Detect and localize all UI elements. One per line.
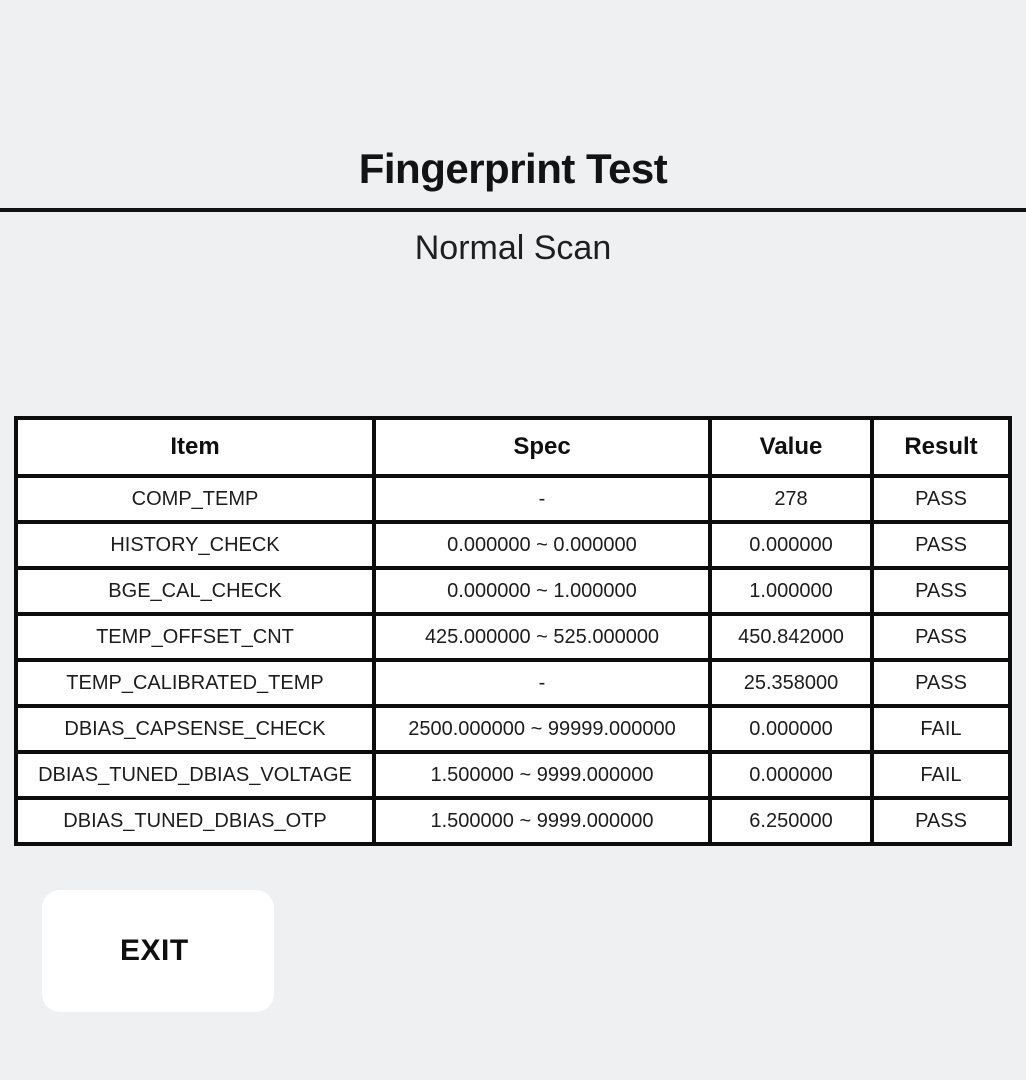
cell-result: PASS (872, 660, 1010, 706)
cell-spec: 2500.000000 ~ 99999.000000 (374, 706, 710, 752)
cell-item: DBIAS_TUNED_DBIAS_OTP (16, 798, 374, 844)
cell-value: 450.842000 (710, 614, 872, 660)
cell-result: FAIL (872, 752, 1010, 798)
column-header-spec: Spec (374, 418, 710, 476)
results-table: Item Spec Value Result COMP_TEMP-278PASS… (14, 416, 1012, 846)
cell-value: 0.000000 (710, 752, 872, 798)
page-header: Fingerprint Test Normal Scan (0, 0, 1026, 267)
page-title: Fingerprint Test (0, 148, 1026, 208)
cell-item: BGE_CAL_CHECK (16, 568, 374, 614)
cell-value: 1.000000 (710, 568, 872, 614)
cell-value: 25.358000 (710, 660, 872, 706)
table-row: TEMP_OFFSET_CNT425.000000 ~ 525.00000045… (16, 614, 1010, 660)
cell-spec: 1.500000 ~ 9999.000000 (374, 798, 710, 844)
cell-result: PASS (872, 798, 1010, 844)
column-header-result: Result (872, 418, 1010, 476)
table-row: TEMP_CALIBRATED_TEMP-25.358000PASS (16, 660, 1010, 706)
cell-result: PASS (872, 614, 1010, 660)
cell-item: DBIAS_TUNED_DBIAS_VOLTAGE (16, 752, 374, 798)
cell-item: COMP_TEMP (16, 476, 374, 522)
cell-value: 278 (710, 476, 872, 522)
column-header-value: Value (710, 418, 872, 476)
cell-spec: 425.000000 ~ 525.000000 (374, 614, 710, 660)
table-row: HISTORY_CHECK0.000000 ~ 0.0000000.000000… (16, 522, 1010, 568)
cell-spec: - (374, 476, 710, 522)
table-row: BGE_CAL_CHECK0.000000 ~ 1.0000001.000000… (16, 568, 1010, 614)
cell-value: 0.000000 (710, 522, 872, 568)
cell-value: 6.250000 (710, 798, 872, 844)
cell-item: TEMP_OFFSET_CNT (16, 614, 374, 660)
cell-spec: - (374, 660, 710, 706)
page-subtitle: Normal Scan (0, 212, 1026, 267)
results-table-container: Item Spec Value Result COMP_TEMP-278PASS… (14, 416, 1008, 846)
exit-button[interactable]: EXIT (42, 890, 274, 1012)
cell-spec: 0.000000 ~ 0.000000 (374, 522, 710, 568)
cell-result: FAIL (872, 706, 1010, 752)
table-row: COMP_TEMP-278PASS (16, 476, 1010, 522)
cell-spec: 1.500000 ~ 9999.000000 (374, 752, 710, 798)
cell-result: PASS (872, 522, 1010, 568)
cell-value: 0.000000 (710, 706, 872, 752)
cell-item: DBIAS_CAPSENSE_CHECK (16, 706, 374, 752)
table-row: DBIAS_TUNED_DBIAS_VOLTAGE1.500000 ~ 9999… (16, 752, 1010, 798)
table-row: DBIAS_TUNED_DBIAS_OTP1.500000 ~ 9999.000… (16, 798, 1010, 844)
cell-item: HISTORY_CHECK (16, 522, 374, 568)
table-header: Item Spec Value Result (16, 418, 1010, 476)
cell-item: TEMP_CALIBRATED_TEMP (16, 660, 374, 706)
cell-result: PASS (872, 568, 1010, 614)
table-body: COMP_TEMP-278PASSHISTORY_CHECK0.000000 ~… (16, 476, 1010, 844)
column-header-item: Item (16, 418, 374, 476)
cell-result: PASS (872, 476, 1010, 522)
cell-spec: 0.000000 ~ 1.000000 (374, 568, 710, 614)
table-row: DBIAS_CAPSENSE_CHECK2500.000000 ~ 99999.… (16, 706, 1010, 752)
table-header-row: Item Spec Value Result (16, 418, 1010, 476)
